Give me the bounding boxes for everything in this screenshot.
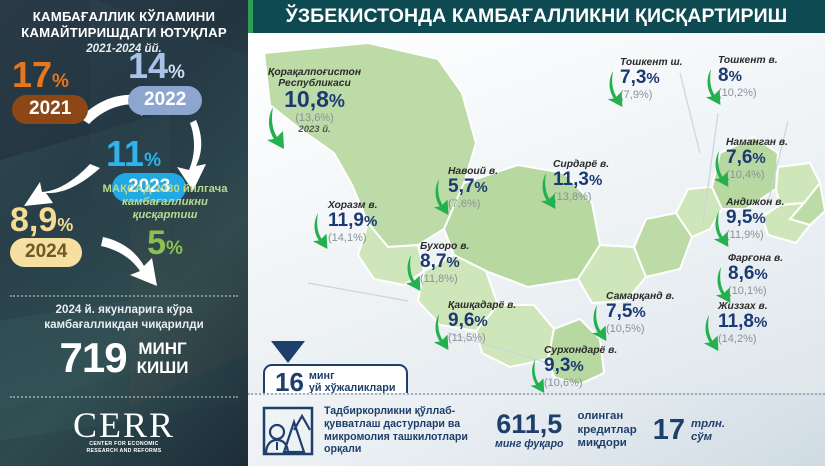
goal-line1: МАҚСАД 2030 йилгача [86,183,244,196]
down-arrow-icon-karakalpakstan [265,107,295,149]
stat-2022-value: 14% [128,48,202,84]
stat-2022-year: 2022 [128,86,202,115]
households-number: 16 [275,369,304,393]
cerr-logo-text: CERR [0,406,248,444]
households-unit: мингуй хўжаликлари [309,370,396,394]
divider-bottom [10,396,238,398]
down-arrow-icon-tashkent-city [606,71,632,107]
credits-unit: трлн. сўм [691,418,725,444]
people-lifted-number: 719 [60,334,127,381]
stat-2022: 14% 2022 [128,48,202,115]
uzbekistan-map: Қорақалпоғистон Республикаси 10,8% (13,6… [248,33,825,393]
down-arrow-icon-namangan [712,151,738,187]
header-accent-bar [248,0,253,33]
region-label-samarkand: Самарқанд в. 7,5% (10,5%) [606,291,675,335]
people-lifted-unit: МИНГКИШИ [137,339,189,377]
citizens-unit: минг фуқаро [495,438,564,450]
header-title: ЎЗБЕКИСТОНДА КАМБАҒАЛЛИКНИ ҚИСҚАРТИРИШ [286,5,788,28]
down-arrow-icon-kashkadarya [432,314,458,350]
down-arrow-icon-sirdaryo [539,173,565,209]
result-note-line1: 2024 й. якунларига кўра [0,303,248,318]
result-note-line2: камбағалликдан чиқарилди [0,318,248,333]
households-pill: 16 мингуй хўжаликлари [263,364,408,393]
down-arrow-icon-khorezm [311,213,337,249]
stat-2021: 17% 2021 [12,57,88,124]
stat-2024: 8,9% 2024 [10,203,82,267]
region-label-kashkadarya: Қашқадарё в. 9,6% (11,5%) [448,300,516,344]
stat-2024-year: 2024 [10,238,82,267]
region-label-surkhandarya: Сурхондарё в. 9,3% (10,6%) [544,345,617,389]
down-arrow-icon-samarkand [590,305,616,341]
cerr-logo: CERR CENTER FOR ECONOMICRESEARCH AND REF… [0,406,248,454]
stat-2021-year: 2021 [12,95,88,124]
stat-2024-value: 8,9% [10,203,82,237]
down-triangle-icon [271,341,305,363]
footer-description: Тадбиркорликни қўллаб- қувватлаш дастурл… [324,405,489,455]
goal-line3: қисқартиш [86,209,244,222]
credits-label: олинган кредитлар миқдори [578,410,637,451]
down-arrow-icon-andijan [712,211,738,247]
goal-value: 5% [86,226,244,266]
goal-line2: камбағалликни [86,196,244,209]
down-arrow-icon-jizzakh [702,315,728,351]
divider-top [10,295,238,297]
down-arrow-icon-navoiy [432,179,458,215]
stat-2021-value: 17% [12,57,88,93]
citizens-stat: 611,5 минг фуқаро [495,411,564,450]
credits-number: 17 [653,416,685,445]
header-bar: ЎЗБЕКИСТОНДА КАМБАҒАЛЛИКНИ ҚИСҚАРТИРИШ [248,0,825,33]
infographic-page: КАМБАҒАЛЛИК КЎЛАМИНИ КАМАЙТИРИШДАГИ ЮТУҚ… [0,0,825,466]
people-lifted-stat: 719МИНГКИШИ [0,334,248,382]
households-legend: 16 мингуй хўжаликлари [263,341,408,393]
left-summary-panel: КАМБАҒАЛЛИК КЎЛАМИНИ КАМАЙТИРИШДАГИ ЮТУҚ… [0,0,248,466]
entrepreneurship-icon [262,406,314,456]
goal-block: МАҚСАД 2030 йилгача камбағалликни қисқар… [86,183,244,266]
result-note: 2024 й. якунларига кўра камбағалликдан ч… [0,303,248,332]
down-arrow-icon-surkhandarya [528,359,554,393]
cerr-logo-tagline: CENTER FOR ECONOMICRESEARCH AND REFORMS [0,441,248,454]
footer-bar: Тадбиркорликни қўллаб- қувватлаш дастурл… [248,393,825,466]
down-arrow-icon-fergana [714,267,740,303]
down-arrow-icon-bukhara [404,255,430,291]
down-arrow-icon-tashkent-region [704,69,730,105]
stat-2023-value: 11% [106,136,186,172]
map-panel: ЎЗБЕКИСТОНДА КАМБАҒАЛЛИКНИ ҚИСҚАРТИРИШ [248,0,825,466]
citizens-number: 611,5 [495,411,564,438]
